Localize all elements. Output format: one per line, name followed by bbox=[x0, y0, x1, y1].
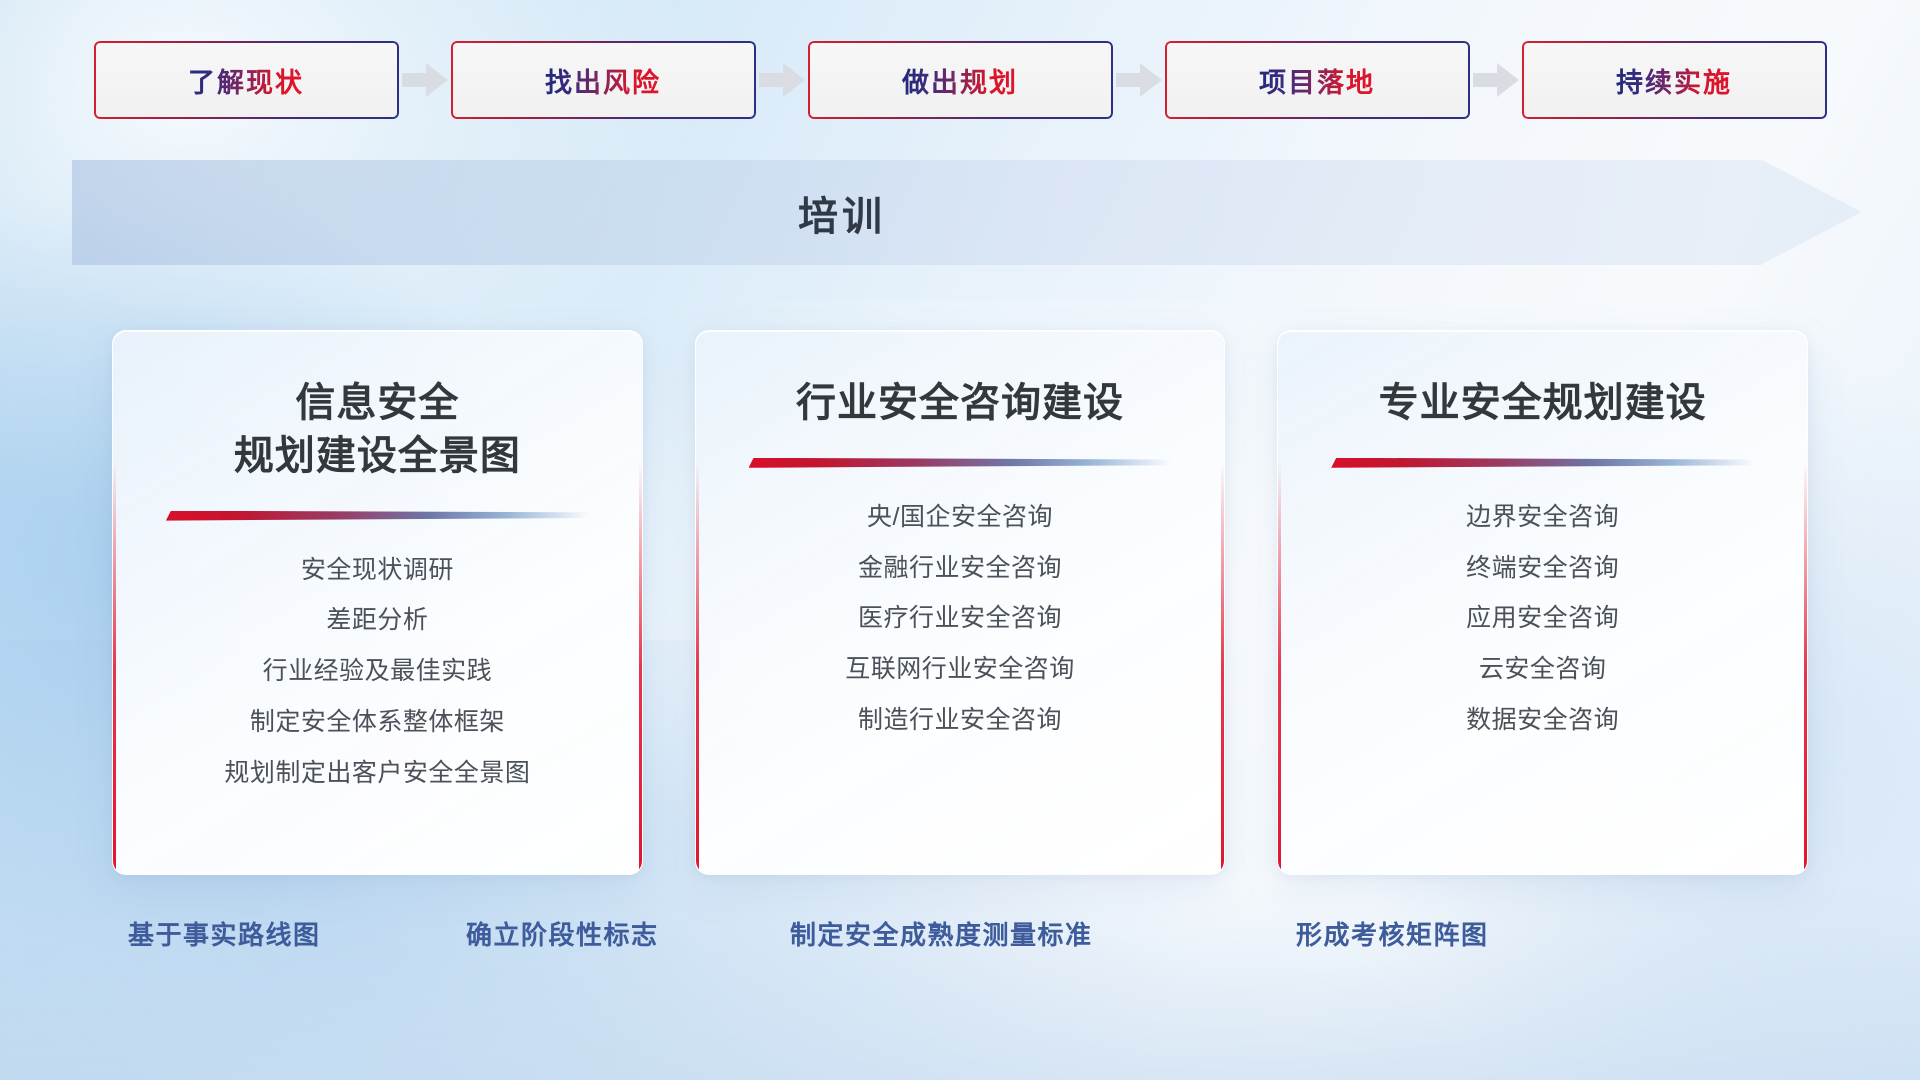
chevron-right-icon-1 bbox=[399, 62, 451, 98]
card-accent-edge-right-3 bbox=[1804, 331, 1807, 874]
card-accent-edge-right-2 bbox=[1221, 331, 1224, 874]
caption-1: 基于事实路线图 bbox=[128, 915, 321, 952]
step-box-3[interactable]: 做出规划 bbox=[808, 41, 1113, 119]
step-label-4: 项目落地 bbox=[1259, 61, 1375, 100]
card-list-item: 终端安全咨询 bbox=[1466, 549, 1619, 588]
card-list-item: 央/国企安全咨询 bbox=[867, 498, 1053, 537]
card-accent-edge-left-1 bbox=[113, 331, 116, 874]
step-label-1: 了解现状 bbox=[188, 61, 304, 100]
caption-3: 制定安全成熟度测量标准 bbox=[790, 915, 1093, 952]
service-card-1[interactable]: 信息安全 规划建设全景图 安全现状调研 差距分析 行业经验及最佳实践 制定安全体… bbox=[112, 330, 643, 875]
card-list-item: 差距分析 bbox=[326, 601, 428, 640]
card-divider-2 bbox=[749, 458, 1172, 468]
card-list-item: 制定安全体系整体框架 bbox=[250, 703, 505, 742]
banner-title: 培训 bbox=[72, 160, 1612, 265]
card-list-item: 数据安全咨询 bbox=[1466, 701, 1619, 740]
bottom-captions-row: 基于事实路线图 确立阶段性标志 制定安全成熟度测量标准 形成考核矩阵图 bbox=[0, 915, 1920, 985]
card-list-2: 央/国企安全咨询 金融行业安全咨询 医疗行业安全咨询 互联网行业安全咨询 制造行… bbox=[696, 498, 1225, 740]
chevron-right-icon-2 bbox=[756, 62, 808, 98]
card-list-item: 云安全咨询 bbox=[1479, 650, 1607, 689]
card-title-2: 行业安全咨询建设 bbox=[776, 377, 1144, 430]
card-list-item: 应用安全咨询 bbox=[1466, 599, 1619, 638]
caption-2: 确立阶段性标志 bbox=[466, 915, 659, 952]
step-label-5: 持续实施 bbox=[1616, 61, 1732, 100]
card-accent-edge-left-3 bbox=[1278, 331, 1281, 874]
card-list-item: 安全现状调研 bbox=[301, 551, 454, 590]
card-list-item: 规划制定出客户安全全景图 bbox=[224, 754, 530, 793]
caption-4: 形成考核矩阵图 bbox=[1296, 915, 1489, 952]
chevron-right-icon-4 bbox=[1470, 62, 1522, 98]
step-box-5[interactable]: 持续实施 bbox=[1522, 41, 1827, 119]
card-accent-edge-right-1 bbox=[639, 331, 642, 874]
service-card-3[interactable]: 专业安全规划建设 边界安全咨询 终端安全咨询 应用安全咨询 云安全咨询 数据安全… bbox=[1277, 330, 1808, 875]
card-divider-bar-3 bbox=[1331, 458, 1754, 468]
step-label-2: 找出风险 bbox=[545, 61, 661, 100]
card-divider-bar-2 bbox=[749, 458, 1172, 468]
step-box-4[interactable]: 项目落地 bbox=[1165, 41, 1470, 119]
step-label-3: 做出规划 bbox=[902, 61, 1018, 100]
step-box-1[interactable]: 了解现状 bbox=[94, 41, 399, 119]
training-banner: 培训 bbox=[72, 160, 1862, 265]
step-box-2[interactable]: 找出风险 bbox=[451, 41, 756, 119]
banner-arrowhead-icon bbox=[1762, 160, 1862, 264]
card-list-item: 行业经验及最佳实践 bbox=[263, 652, 493, 691]
card-list-item: 边界安全咨询 bbox=[1466, 498, 1619, 537]
card-list-item: 制造行业安全咨询 bbox=[858, 701, 1062, 740]
card-list-item: 互联网行业安全咨询 bbox=[845, 650, 1075, 689]
chevron-right-icon-3 bbox=[1113, 62, 1165, 98]
card-divider-1 bbox=[166, 511, 589, 521]
service-card-2[interactable]: 行业安全咨询建设 央/国企安全咨询 金融行业安全咨询 医疗行业安全咨询 互联网行… bbox=[695, 330, 1226, 875]
card-divider-bar-1 bbox=[166, 511, 589, 521]
service-cards-row: 信息安全 规划建设全景图 安全现状调研 差距分析 行业经验及最佳实践 制定安全体… bbox=[0, 330, 1920, 890]
card-list-item: 金融行业安全咨询 bbox=[858, 549, 1062, 588]
card-title-3: 专业安全规划建设 bbox=[1359, 377, 1727, 430]
card-list-3: 边界安全咨询 终端安全咨询 应用安全咨询 云安全咨询 数据安全咨询 bbox=[1278, 498, 1807, 740]
card-divider-3 bbox=[1331, 458, 1754, 468]
process-steps-row: 了解现状 找出风险 做出规划 项目落地 持续实施 bbox=[0, 0, 1920, 160]
card-title-1: 信息安全 规划建设全景图 bbox=[214, 377, 541, 483]
card-list-item: 医疗行业安全咨询 bbox=[858, 599, 1062, 638]
card-accent-edge-left-2 bbox=[696, 331, 699, 874]
card-list-1: 安全现状调研 差距分析 行业经验及最佳实践 制定安全体系整体框架 规划制定出客户… bbox=[113, 551, 642, 793]
